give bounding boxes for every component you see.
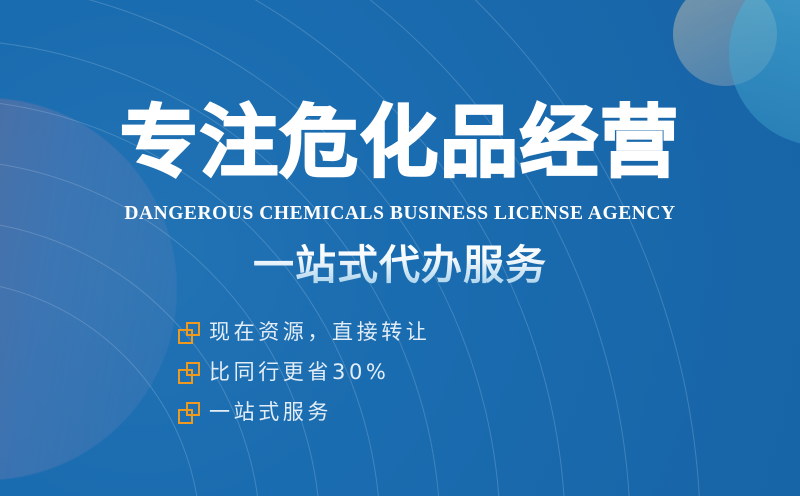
- headline-english: DANGEROUS CHEMICALS BUSINESS LICENSE AGE…: [0, 203, 800, 225]
- headline-secondary: 一站式代办服务: [0, 243, 800, 289]
- overlapping-squares-icon: [178, 402, 200, 424]
- list-item: 一站式服务: [178, 397, 430, 428]
- promotional-banner: 专注危化品经营 DANGEROUS CHEMICALS BUSINESS LIC…: [0, 0, 800, 496]
- banner-content: 专注危化品经营 DANGEROUS CHEMICALS BUSINESS LIC…: [0, 0, 800, 496]
- headline-primary: 专注危化品经营: [0, 104, 800, 182]
- overlapping-squares-icon: [178, 322, 200, 344]
- list-item: 比同行更省30%: [178, 357, 430, 388]
- list-item: 现在资源，直接转让: [178, 317, 430, 348]
- list-item-label: 现在资源，直接转让: [209, 322, 430, 343]
- overlapping-squares-icon: [178, 362, 200, 384]
- feature-bullet-list: 现在资源，直接转让 比同行更省30% 一站式服务: [178, 317, 430, 437]
- list-item-label: 一站式服务: [209, 402, 332, 423]
- list-item-label: 比同行更省30%: [209, 362, 389, 383]
